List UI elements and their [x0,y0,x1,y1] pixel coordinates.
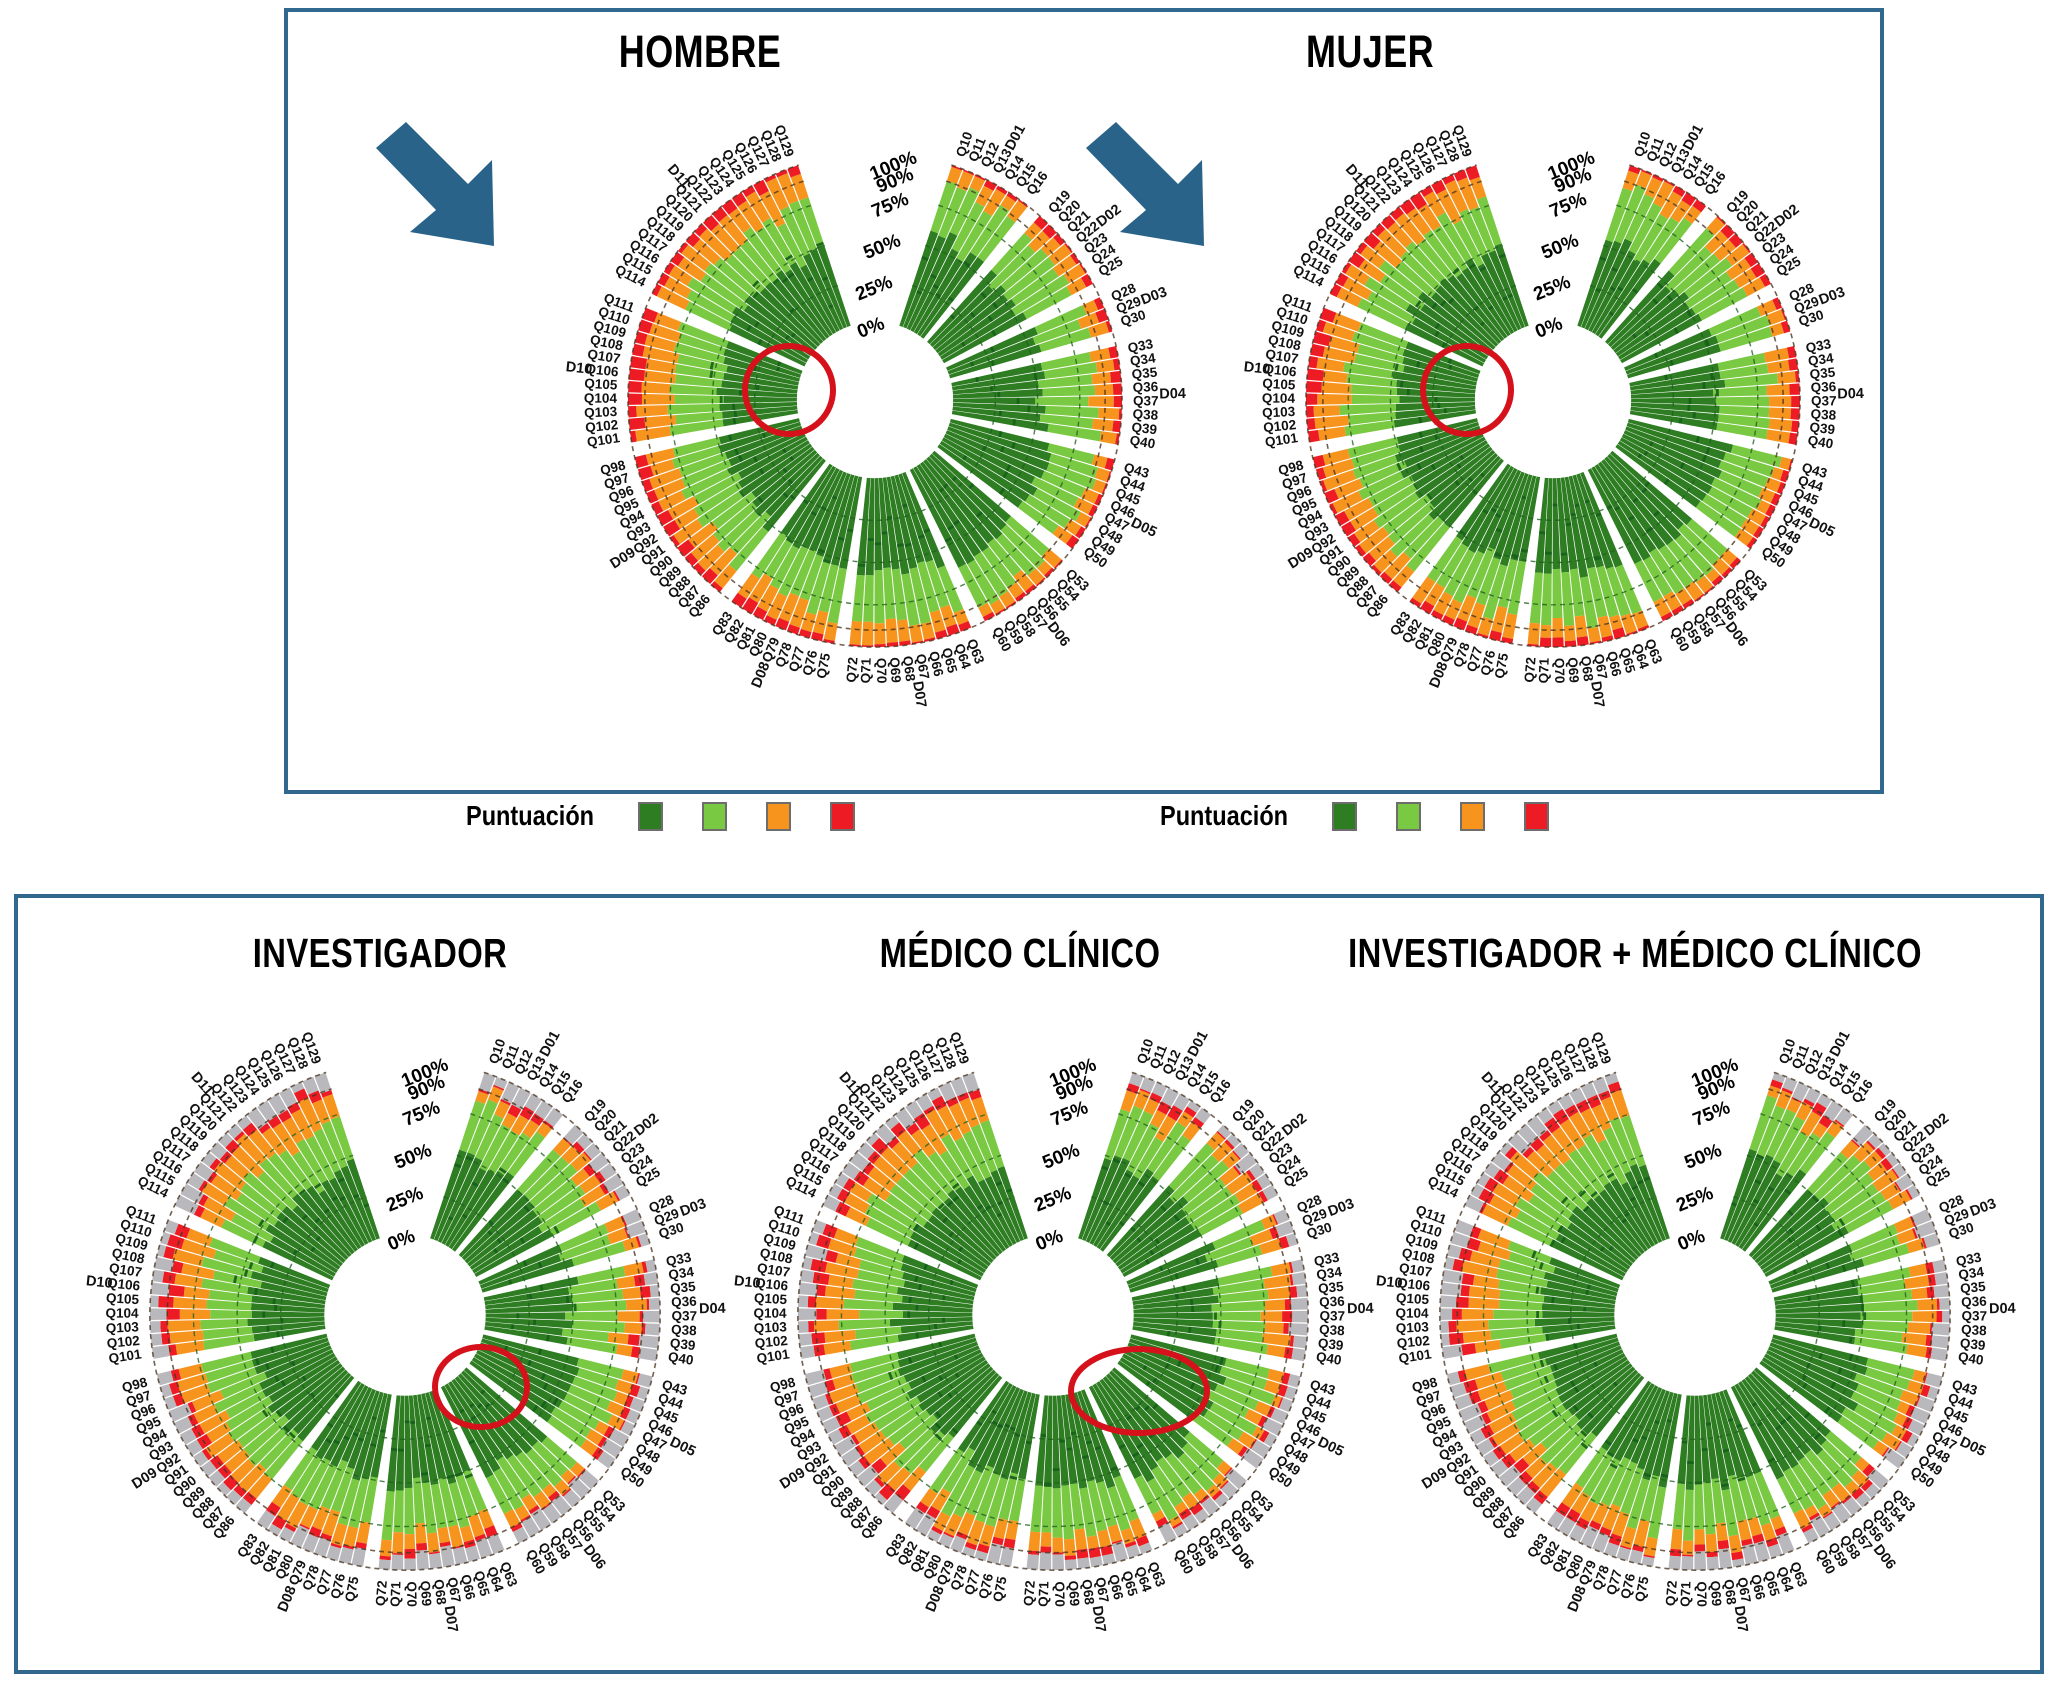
question-label: Q103 [1395,1319,1429,1336]
chart-bar-segment [1931,1335,1949,1348]
chart-bar-segment [1908,1322,1931,1334]
chart-bar-segment [382,1491,395,1540]
chart-bar-marker [391,1448,397,1451]
question-label: Q72 [373,1580,390,1607]
chart-bar-segment [1462,1273,1475,1285]
chart-bar-segment [1448,1321,1456,1332]
chart-bar-segment [1707,1556,1719,1569]
chart-bar-segment [150,1321,161,1333]
question-label: Q40 [1129,433,1157,452]
chart-bar-marker [1842,1320,1845,1327]
chart-bar-segment [1074,1528,1087,1550]
chart-bar-segment [1291,1298,1308,1310]
chart-bar-segment [1564,625,1576,641]
chart-bar-segment [1449,1333,1464,1345]
domain-label: D08 [1565,1584,1590,1615]
chart-bar-segment [1577,636,1589,646]
legend-mujer: Puntuación [1160,800,1549,832]
chart-bar-marker [274,1305,277,1311]
chart-bar-marker [1545,552,1552,555]
domain-label: D04 [1837,386,1864,402]
domain-label: D01 [1680,122,1707,153]
chart-bar-segment [1769,407,1791,419]
chart-bar-segment [1088,396,1114,407]
chart-bar-segment [150,1308,167,1320]
chart-bar-marker [720,396,723,403]
chart-bar-segment [1440,1295,1456,1307]
question-label: Q70 [874,658,890,684]
chart-center-hole [1475,322,1631,478]
chart-bar-segment [1041,1532,1052,1546]
question-label: Q104 [1395,1306,1429,1321]
radial-axis-tick: 50% [1539,230,1582,264]
domain-label: D06 [1228,1542,1257,1573]
chart-bar-segment [798,1308,816,1320]
chart-bar-marker [1053,1468,1060,1471]
chart-bar-marker [1536,1311,1539,1318]
domain-label: D08 [749,660,774,691]
chart-bar-marker [942,1318,945,1323]
chart-bar-segment [814,1320,839,1332]
radial-axis-tick: 50% [1682,1140,1725,1174]
chart-bar-marker [934,1324,937,1330]
chart-bar-segment [1440,1321,1449,1333]
chart-center-hole [324,1234,485,1395]
chart-bar-segment [380,1540,392,1557]
question-label: Q104 [1262,391,1296,406]
chart-bar-segment [1268,1287,1290,1299]
chart-bar-segment [852,575,865,622]
chart-bar-marker [868,538,874,541]
chart-bar-segment [1911,1288,1927,1300]
chart-bar-segment [352,1547,366,1566]
figure-root: HOMBRE MUJER Q10Q11Q12Q13Q14Q15Q16D01Q19… [0,0,2055,1685]
chart-bar-segment [1937,1299,1940,1310]
chart-bar-segment [1283,1323,1289,1334]
radial-axis-tick: 25% [1031,1183,1074,1217]
chart-bar-segment [628,394,642,405]
chart-bar-segment [629,418,646,430]
chart-bar-segment [800,1346,815,1359]
chart-bar-segment [1065,1559,1077,1570]
chart-bar-segment [1706,1534,1718,1552]
domain-label: D06 [580,1542,609,1573]
chart-bar-marker [1687,405,1690,411]
chart-bar-segment [465,1545,480,1562]
chart-bar-marker [1689,398,1692,404]
chart-bar-marker [881,531,887,534]
chart-bar-segment [622,1287,641,1299]
chart-bar-segment [608,1332,629,1344]
chart-bar-segment [1540,638,1551,648]
circular-chart-investigador-medico[interactable]: Q10Q11Q12Q13Q14Q15Q16D01Q19Q20Q21Q22Q23Q… [1380,1000,2010,1630]
question-label: Q72 [1663,1580,1680,1607]
chart-bar-segment [152,1345,170,1359]
legend-hombre: Puntuación [466,800,855,832]
chart-bar-segment [874,623,885,644]
chart-bar-marker [1435,397,1438,402]
chart-bar-segment [1530,572,1543,623]
chart-bar-segment [1462,1309,1493,1320]
domain-label: D10 [733,1273,761,1292]
radial-axis-tick: 75% [1690,1097,1733,1131]
chart-bar-marker [1017,398,1020,404]
question-label: Q104 [753,1306,787,1321]
chart-title-hombre: HOMBRE [532,26,868,78]
chart-bar-segment [158,1296,174,1308]
chart-bar-segment [849,621,862,645]
chart-bar-segment [616,1344,633,1356]
circular-chart-medico[interactable]: Q10Q11Q12Q13Q14Q15Q16D01Q19Q20Q21Q22Q23Q… [738,1000,1368,1630]
chart-bar-marker [1027,405,1030,412]
chart-bar-marker [997,392,1000,398]
chart-bar-segment [798,1295,808,1307]
chart-bar-marker [1407,389,1410,396]
chart-bar-marker [1553,504,1558,507]
chart-bar-segment [161,1333,171,1345]
chart-bar-segment [1114,396,1122,407]
question-label: Q36 [1961,1294,1988,1310]
radial-axis-tick: 50% [1040,1140,1083,1174]
question-label: Q103 [1262,404,1296,421]
chart-bar-segment [645,1323,660,1335]
radial-axis-tick: 50% [392,1140,435,1174]
chart-title-mujer: MUJER [1202,26,1538,78]
chart-bar-segment [1460,1285,1469,1296]
chart-bar-segment [1909,1264,1928,1278]
chart-bar-segment [1092,372,1112,384]
chart-bar-marker [410,1421,415,1424]
chart-bar-segment [150,1295,159,1307]
chart-bar-marker [1191,1306,1194,1312]
chart-bar-segment [1096,359,1115,372]
chart-bar-marker [732,404,735,410]
chart-bar-segment [180,1309,210,1319]
chart-bar-segment [1777,371,1796,383]
chart-bar-segment [897,619,910,642]
chart-bar-segment [798,1321,809,1333]
domain-label: D03 [1326,1196,1357,1220]
legend-swatch-verde-oscuro [638,802,663,831]
chart-bar-segment [811,1332,825,1344]
radial-axis-tick: 75% [869,189,912,223]
chart-bar-segment [392,1532,403,1553]
chart-bar-marker [1561,552,1568,555]
question-label: Q103 [105,1319,139,1336]
question-label: Q40 [1315,1349,1343,1368]
chart-bar-segment [404,1488,414,1534]
domain-label: D03 [678,1196,709,1220]
question-label: Q40 [1807,433,1835,452]
pointer-arrow-hombre [370,122,550,267]
chart-bar-segment [1052,1538,1063,1553]
chart-bar-segment [427,1532,440,1552]
chart-bar-segment [1291,1348,1305,1361]
chart-bar-segment [162,1271,176,1284]
chart-bar-marker [1044,1483,1052,1486]
domain-label: D02 [631,1110,662,1139]
chart-bar-segment [1087,1535,1099,1549]
domain-label: D07 [909,680,929,709]
domain-label: D05 [667,1434,698,1460]
chart-bar-segment [1090,1556,1103,1567]
chart-bar-segment [1541,574,1552,626]
domain-label: D05 [1957,1434,1988,1460]
chart-center-hole [797,322,953,478]
domain-label: D05 [1128,515,1159,541]
question-label: Q72 [1522,656,1539,683]
chart-bar-segment [437,1527,450,1543]
chart-bar-segment [630,356,647,369]
chart-bar-segment [799,1333,813,1346]
chart-bar-marker [1583,1306,1586,1311]
domain-label: D07 [441,1605,461,1634]
chart-bar-segment [808,1321,814,1332]
chart-bar-segment [1718,1540,1730,1550]
chart-bar-segment [675,395,724,404]
domain-label: D03 [1817,284,1848,308]
chart-bar-segment [799,1282,818,1295]
chart-bar-segment [1112,420,1121,432]
chart-bar-segment [1930,1348,1947,1362]
chart-bar-segment [173,1297,207,1309]
legend-swatch-naranja [766,802,791,831]
chart-bar-marker [756,385,759,391]
domain-label: D06 [1870,1542,1899,1573]
chart-bar-segment [618,1311,640,1322]
chart-bar-marker [405,1420,410,1423]
chart-bar-segment [176,1341,205,1355]
chart-center-hole [1614,1234,1775,1395]
question-label: Q104 [105,1306,139,1321]
chart-bar-segment [649,1298,660,1310]
chart-bar-segment [1291,1259,1304,1272]
radial-axis-tick: 25% [1531,272,1574,306]
chart-bar-segment [151,1334,163,1346]
chart-bar-segment [1861,1311,1913,1321]
radial-axis-tick: 75% [400,1097,443,1131]
chart-bar-segment [404,1558,416,1570]
chart-bar-segment [827,1309,860,1319]
question-label: Q71 [388,1581,404,1607]
chart-bar-marker [915,1304,918,1310]
chart-bar-segment [1321,382,1351,394]
chart-bar-segment [157,1371,174,1386]
chart-bar-segment [1026,1554,1039,1570]
chart-bar-segment [1440,1308,1452,1320]
question-label: Q36 [1319,1294,1346,1310]
chart-bar-segment [813,1344,825,1356]
circular-chart-hombre[interactable]: Q10Q11Q12Q13Q14Q15Q16D01Q19Q20Q21Q22Q23Q… [570,95,1180,705]
chart-bar-segment [1552,618,1563,638]
chart-bar-segment [416,1543,427,1551]
chart-bar-segment [824,622,838,641]
question-label: Q36 [671,1294,698,1310]
question-label: Q70 [404,1581,420,1607]
chart-title-medico: MÉDICO CLÍNICO [764,930,1276,977]
chart-center-hole [972,1234,1133,1395]
chart-bar-segment [210,1310,252,1319]
chart-bar-segment [816,1309,826,1320]
chart-bar-marker [990,386,993,391]
domain-label: D09 [129,1465,160,1493]
chart-bar-segment [1769,396,1791,407]
chart-bar-segment [874,570,884,623]
domain-label: D10 [1243,359,1271,378]
question-label: Q72 [1021,1580,1038,1607]
domain-label: D01 [1185,1029,1212,1060]
chart-bar-segment [863,575,874,622]
chart-bar-marker [533,1320,536,1326]
chart-bar-segment [1352,395,1400,404]
chart-bar-segment [1065,1555,1076,1560]
domain-label: D01 [1002,122,1029,153]
domain-label: D03 [1968,1196,1999,1220]
chart-bar-segment [1039,1552,1051,1570]
domain-label: D08 [1427,660,1452,691]
legend-label: Puntuación [1160,800,1288,832]
domain-label: D07 [1089,1605,1109,1634]
question-label: Q104 [584,391,618,406]
radial-axis-tick: 75% [1048,1097,1091,1131]
chart-bar-segment [643,1311,660,1323]
domain-label: D02 [1279,1110,1310,1139]
chart-bar-marker [1437,403,1440,408]
chart-bar-segment [429,1553,442,1569]
question-label: Q40 [667,1349,695,1368]
chart-bar-segment [1461,1343,1476,1355]
chart-bar-segment [1113,383,1122,395]
chart-bar-segment [1271,1262,1291,1276]
radial-axis-tick: 75% [1547,189,1590,223]
question-label: Q70 [1052,1581,1068,1607]
domain-label: D01 [1827,1029,1854,1060]
chart-bar-segment [1092,455,1108,469]
chart-bar-marker [875,542,882,545]
radial-axis-tick: 25% [383,1183,426,1217]
chart-bar-segment [1288,1323,1308,1335]
domain-label: D04 [699,1301,726,1317]
chart-bar-marker [516,1313,519,1318]
chart-bar-segment [628,381,642,393]
legend-label: Puntuación [466,800,594,832]
legend-swatch-verde-claro [702,802,727,831]
chart-bar-segment [1306,381,1322,393]
chart-bar-marker [907,1311,910,1318]
chart-bar-segment [886,618,898,642]
chart-bar-marker [262,1311,265,1317]
chart-bar-segment [1306,394,1317,405]
chart-bar-segment [1716,396,1769,406]
radial-axis-tick: 25% [853,272,896,306]
chart-bar-segment [1028,1531,1040,1551]
radial-axis-tick: 25% [1673,1183,1716,1217]
chart-bar-marker [1702,1448,1708,1451]
legend-swatch-naranja [1460,802,1485,831]
chart-bar-segment [629,368,645,381]
chart-bar-segment [813,1272,830,1285]
question-label: Q71 [858,657,874,683]
chart-bar-segment [151,1282,170,1295]
chart-bar-marker [1059,1440,1065,1443]
circular-chart-mujer[interactable]: Q10Q11Q12Q13Q14Q15Q16D01Q19Q20Q21Q22Q23Q… [1248,95,1858,705]
chart-bar-segment [623,1262,643,1276]
chart-bar-segment [1575,615,1588,637]
chart-bar-segment [862,622,873,646]
question-label: Q40 [1957,1349,1985,1368]
chart-bar-segment [1766,384,1789,395]
chart-bar-segment [1764,348,1789,363]
chart-bar-segment [404,1549,415,1559]
domain-label: D01 [537,1029,564,1060]
chart-bar-segment [1318,427,1346,441]
chart-bar-segment [1314,405,1340,417]
legend-swatch-verde-oscuro [1332,802,1357,831]
chart-bar-segment [167,1320,200,1332]
chart-bar-segment [1917,1299,1937,1311]
chart-bar-segment [1306,406,1314,418]
question-label: Q70 [1552,658,1568,684]
chart-bar-segment [1671,1529,1683,1550]
chart-bar-segment [1098,408,1119,420]
chart-bar-segment [1939,1298,1950,1310]
chart-bar-segment [1942,1311,1950,1323]
domain-label: D10 [1375,1273,1403,1292]
chart-bar-segment [638,1347,657,1361]
chart-bar-segment [616,1276,635,1289]
domain-label: D09 [777,1465,808,1493]
question-label: Q70 [1694,1581,1710,1607]
chart-bar-marker [1040,1434,1046,1437]
chart-bar-segment [1310,344,1325,357]
circular-chart-investigador[interactable]: Q10Q11Q12Q13Q14Q15Q16D01Q19Q20Q21Q22Q23Q… [90,1000,720,1630]
chart-bar-segment [404,1534,415,1549]
chart-bar-segment [628,1334,640,1346]
chart-bar-segment [1052,1554,1064,1570]
chart-bar-marker [398,1449,404,1452]
chart-bar-marker [1444,408,1447,413]
domain-label: D05 [1806,515,1837,541]
question-label: Q71 [1536,657,1552,683]
question-label: Q103 [584,404,618,421]
chart-bar-segment [626,1299,647,1311]
domain-label: D09 [1419,1465,1450,1493]
chart-bar-segment [1266,1345,1285,1358]
chart-bar-segment [1906,1344,1927,1357]
chart-bar-segment [1265,1322,1284,1333]
domain-label: D08 [275,1584,300,1615]
chart-bar-segment [1552,569,1562,618]
chart-bar-segment [824,1341,852,1355]
chart-bar-segment [1767,360,1790,373]
chart-bar-segment [391,1555,403,1571]
chart-bar-segment [1694,1551,1706,1570]
chart-bar-marker [1716,389,1719,396]
chart-bar-segment [1936,1311,1942,1322]
chart-bar-segment [1766,429,1790,443]
chart-bar-segment [1540,625,1551,638]
chart-bar-segment [1681,1556,1693,1570]
chart-bar-marker [1682,1440,1688,1443]
chart-bar-segment [816,1297,844,1309]
domain-label: D07 [1731,1605,1751,1634]
chart-bar-segment [1213,1312,1261,1322]
chart-bar-marker [739,390,742,396]
chart-bar-segment [1064,1539,1076,1556]
radial-axis-tick: 50% [861,230,904,264]
chart-bar-segment [1694,1529,1705,1544]
chart-bar-segment [859,1310,903,1319]
